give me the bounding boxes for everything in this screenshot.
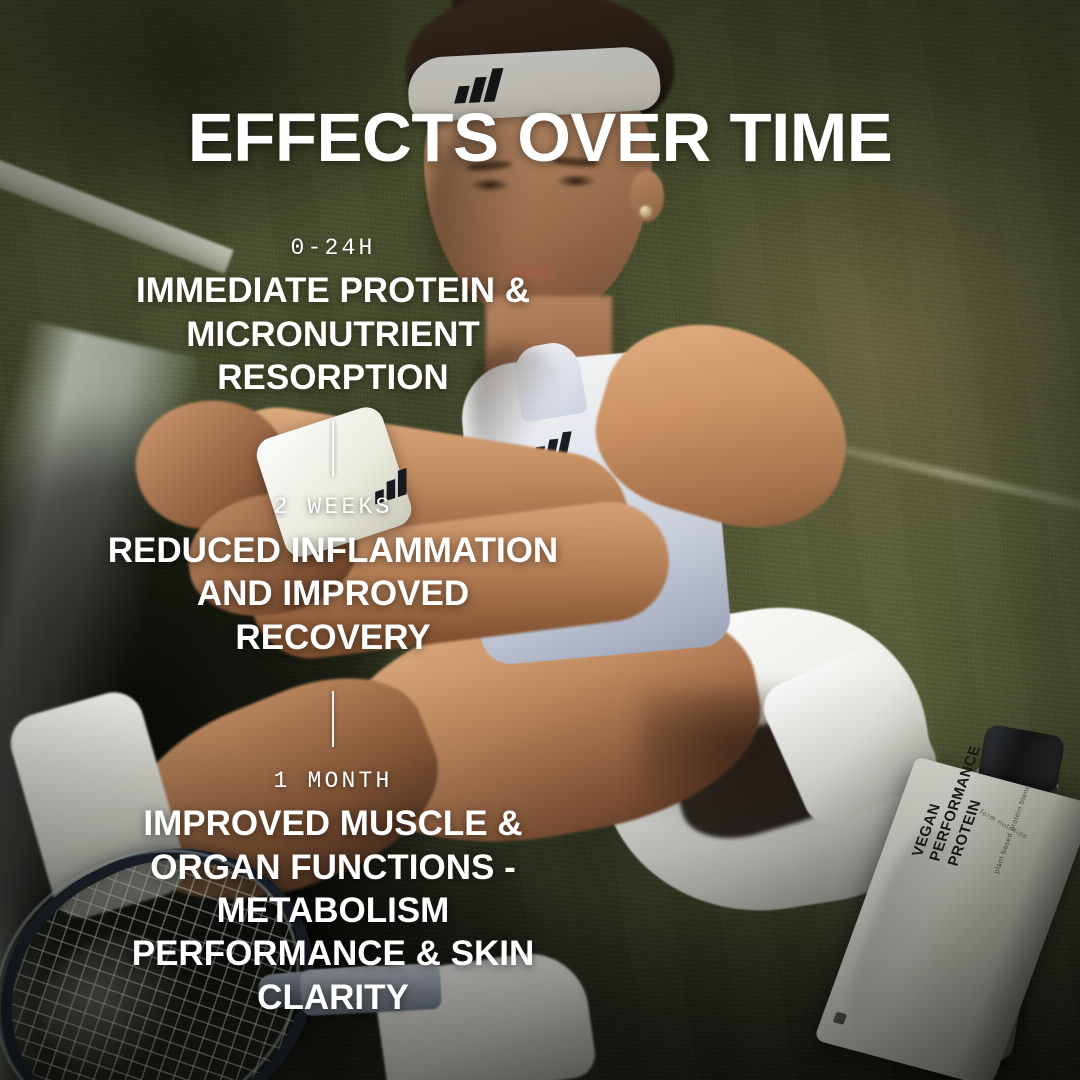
page-title: EFFECTS OVER TIME <box>0 103 1080 172</box>
stage-eyebrow-1-month: 1 MONTH <box>58 769 608 794</box>
timeline-divider-2 <box>332 691 334 747</box>
promotional-graphic: form nutrition plant based protein blend… <box>0 0 1080 1080</box>
stage-eyebrow-0-24h: 0-24H <box>58 236 608 261</box>
stage-body-2-weeks: REDUCED INFLAMMATION AND IMPROVED RECOVE… <box>58 529 608 659</box>
text-overlay: EFFECTS OVER TIME 0-24H IMMEDIATE PROTEI… <box>0 0 1080 1080</box>
timeline-stage-1-month: 1 MONTH IMPROVED MUSCLE & ORGAN FUNCTION… <box>58 691 608 1019</box>
timeline-stage-0-24h: 0-24H IMMEDIATE PROTEIN & MICRONUTRIENT … <box>58 236 608 399</box>
effects-timeline: 0-24H IMMEDIATE PROTEIN & MICRONUTRIENT … <box>58 236 608 1019</box>
stage-body-1-month: IMPROVED MUSCLE & ORGAN FUNCTIONS - META… <box>58 802 608 1019</box>
stage-eyebrow-2-weeks: 2 WEEKS <box>58 495 608 520</box>
timeline-stage-2-weeks: 2 WEEKS REDUCED INFLAMMATION AND IMPROVE… <box>58 495 608 658</box>
timeline-divider-1 <box>332 421 334 477</box>
stage-body-0-24h: IMMEDIATE PROTEIN & MICRONUTRIENT RESORP… <box>58 269 608 399</box>
